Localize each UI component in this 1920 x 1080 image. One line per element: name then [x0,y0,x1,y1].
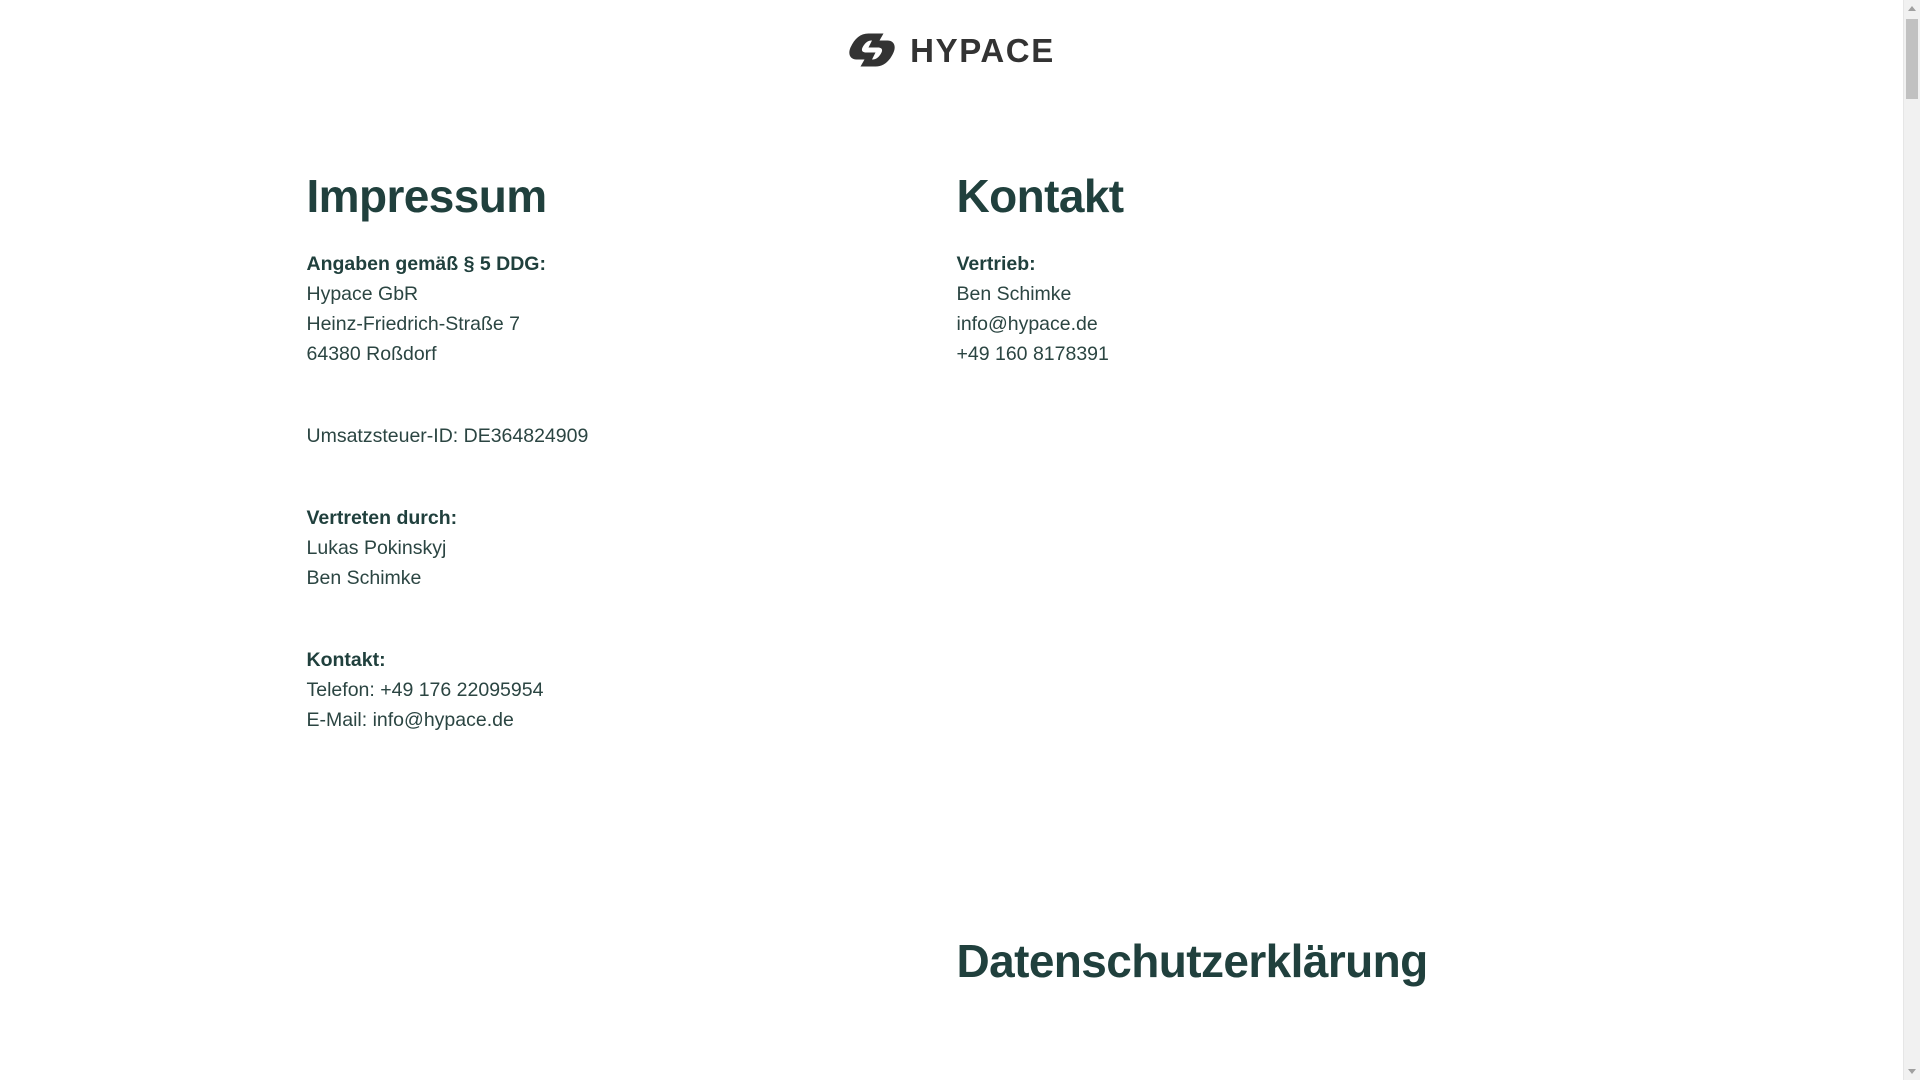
brand-wordmark: HYPACE [910,34,1055,67]
impressum-group-company: Angaben gemäß § 5 DDG: Hypace GbR Heinz-… [307,249,957,369]
kontakt-sales-email: info@hypace.de [957,309,1597,339]
brand-wordmark-text: HYPACE [910,34,1055,67]
kontakt-sales-phone: +49 160 8178391 [957,339,1597,369]
site-header: HYPACE [0,0,1903,104]
impressum-contact-phone: Telefon: +49 176 22095954 [307,675,957,705]
impressum-group-contact: Kontakt: Telefon: +49 176 22095954 E-Mai… [307,645,957,735]
agb-block: AGB [307,735,957,1080]
scrollbar-up-button[interactable] [1904,0,1920,17]
impressum-representatives-heading: Vertreten durch: [307,503,957,533]
scroll-down-arrow-icon [1908,1069,1916,1074]
impressum-group-representatives: Vertreten durch: Lukas Pokinskyj Ben Sch… [307,503,957,593]
brand-logo[interactable]: HYPACE [848,31,1055,69]
impressum-block: Impressum Angaben gemäß § 5 DDG: Hypace … [307,104,957,735]
datenschutz-block: Datenschutzerklärung [957,369,1597,987]
kontakt-block: Kontakt Vertrieb: Ben Schimke info@hypac… [957,104,1597,369]
scrollbar-down-button[interactable] [1904,1063,1920,1080]
column-impressum: Impressum Angaben gemäß § 5 DDG: Hypace … [307,104,957,1080]
scroll-up-arrow-icon [1908,6,1916,11]
impressum-company-city: 64380 Roßdorf [307,339,957,369]
page-title-datenschutzerklaerung: Datenschutzerklärung [957,937,1597,987]
page-title-kontakt: Kontakt [957,172,1597,222]
kontakt-sales-heading: Vertrieb: [957,249,1597,279]
impressum-contact-heading: Kontakt: [307,645,957,675]
kontakt-group-sales: Vertrieb: Ben Schimke info@hypace.de +49… [957,249,1597,369]
page-title-impressum: Impressum [307,172,957,222]
main-content: Impressum Angaben gemäß § 5 DDG: Hypace … [0,104,1903,1080]
impressum-representative-2: Ben Schimke [307,563,957,593]
impressum-representative-1: Lukas Pokinskyj [307,533,957,563]
page-root: HYPACE Impressum Angaben gemäß § 5 DDG: … [0,0,1903,1080]
impressum-company-street: Heinz-Friedrich-Straße 7 [307,309,957,339]
impressum-company-name: Hypace GbR [307,279,957,309]
impressum-contact-email: E-Mail: info@hypace.de [307,705,957,735]
vertical-scrollbar[interactable] [1903,0,1920,1080]
impressum-company-heading: Angaben gemäß § 5 DDG: [307,249,957,279]
kontakt-sales-name: Ben Schimke [957,279,1597,309]
scrollbar-thumb[interactable] [1906,19,1918,99]
impressum-vat-id: Umsatzsteuer-ID: DE364824909 [307,421,957,451]
impressum-group-vatid: Umsatzsteuer-ID: DE364824909 [307,421,957,451]
column-kontakt: Kontakt Vertrieb: Ben Schimke info@hypac… [957,104,1597,1080]
content-columns: Impressum Angaben gemäß § 5 DDG: Hypace … [307,104,1597,1080]
hypace-h-mark-icon [848,31,896,69]
